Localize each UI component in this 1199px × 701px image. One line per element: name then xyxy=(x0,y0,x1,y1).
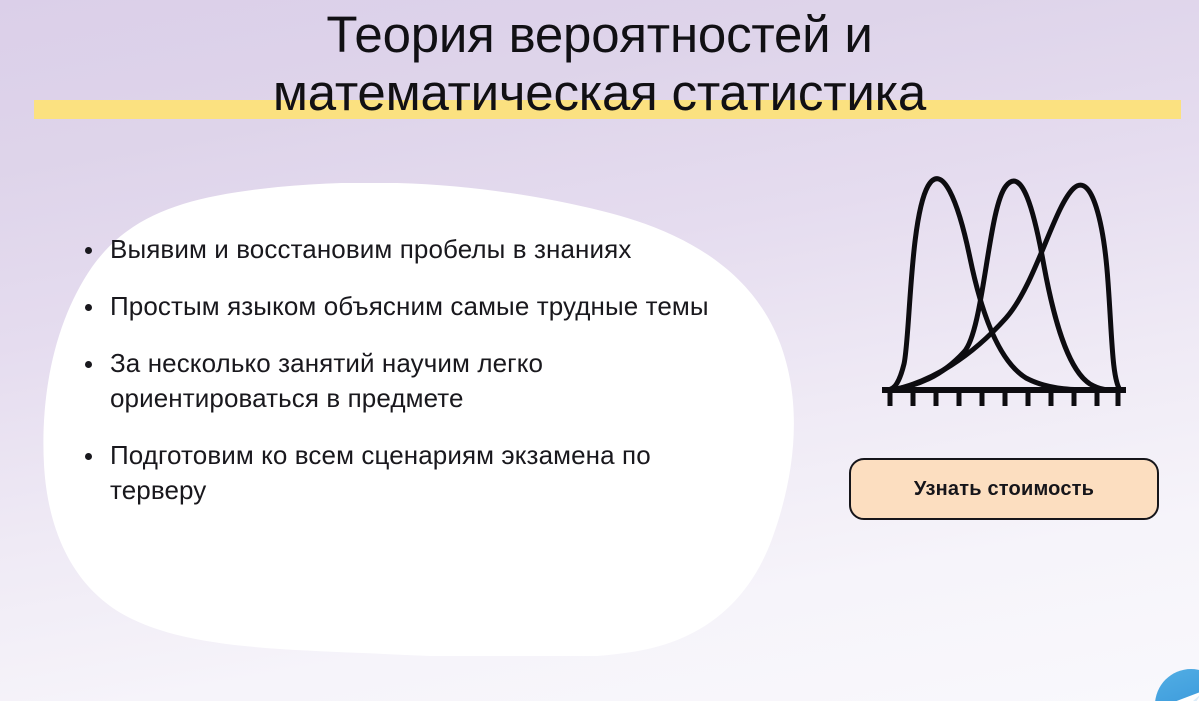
bullet-dot-icon xyxy=(85,304,92,311)
list-item: Подготовим ко всем сценариям экзамена по… xyxy=(76,438,716,508)
slide-canvas: Теория вероятностей и математическая ста… xyxy=(0,0,1199,701)
list-item-label: Выявим и восстановим пробелы в знаниях xyxy=(110,234,631,264)
bullet-dot-icon xyxy=(85,361,92,368)
learn-price-button[interactable]: Узнать стоимость xyxy=(849,458,1159,520)
list-item: Простым языком объясним самые трудные те… xyxy=(76,289,716,324)
normal-distribution-curves-icon xyxy=(876,166,1132,414)
bullet-dot-icon xyxy=(85,453,92,460)
list-item-label: Простым языком объясним самые трудные те… xyxy=(110,291,709,321)
page-title-line-1: Теория вероятностей и xyxy=(0,6,1199,64)
list-item-label: За несколько занятий научим легко ориент… xyxy=(110,348,543,413)
bullet-dot-icon xyxy=(85,247,92,254)
list-item: За несколько занятий научим легко ориент… xyxy=(76,346,716,416)
telegram-chat-button[interactable] xyxy=(1155,669,1199,701)
learn-price-button-label: Узнать стоимость xyxy=(914,478,1094,501)
list-item-label: Подготовим ко всем сценариям экзамена по… xyxy=(110,440,651,505)
list-item: Выявим и восстановим пробелы в знаниях xyxy=(76,232,716,267)
paper-plane-icon xyxy=(1169,681,1199,701)
headline-highlight-bar xyxy=(34,100,1181,119)
benefits-list: Выявим и восстановим пробелы в знаниях П… xyxy=(76,232,716,508)
